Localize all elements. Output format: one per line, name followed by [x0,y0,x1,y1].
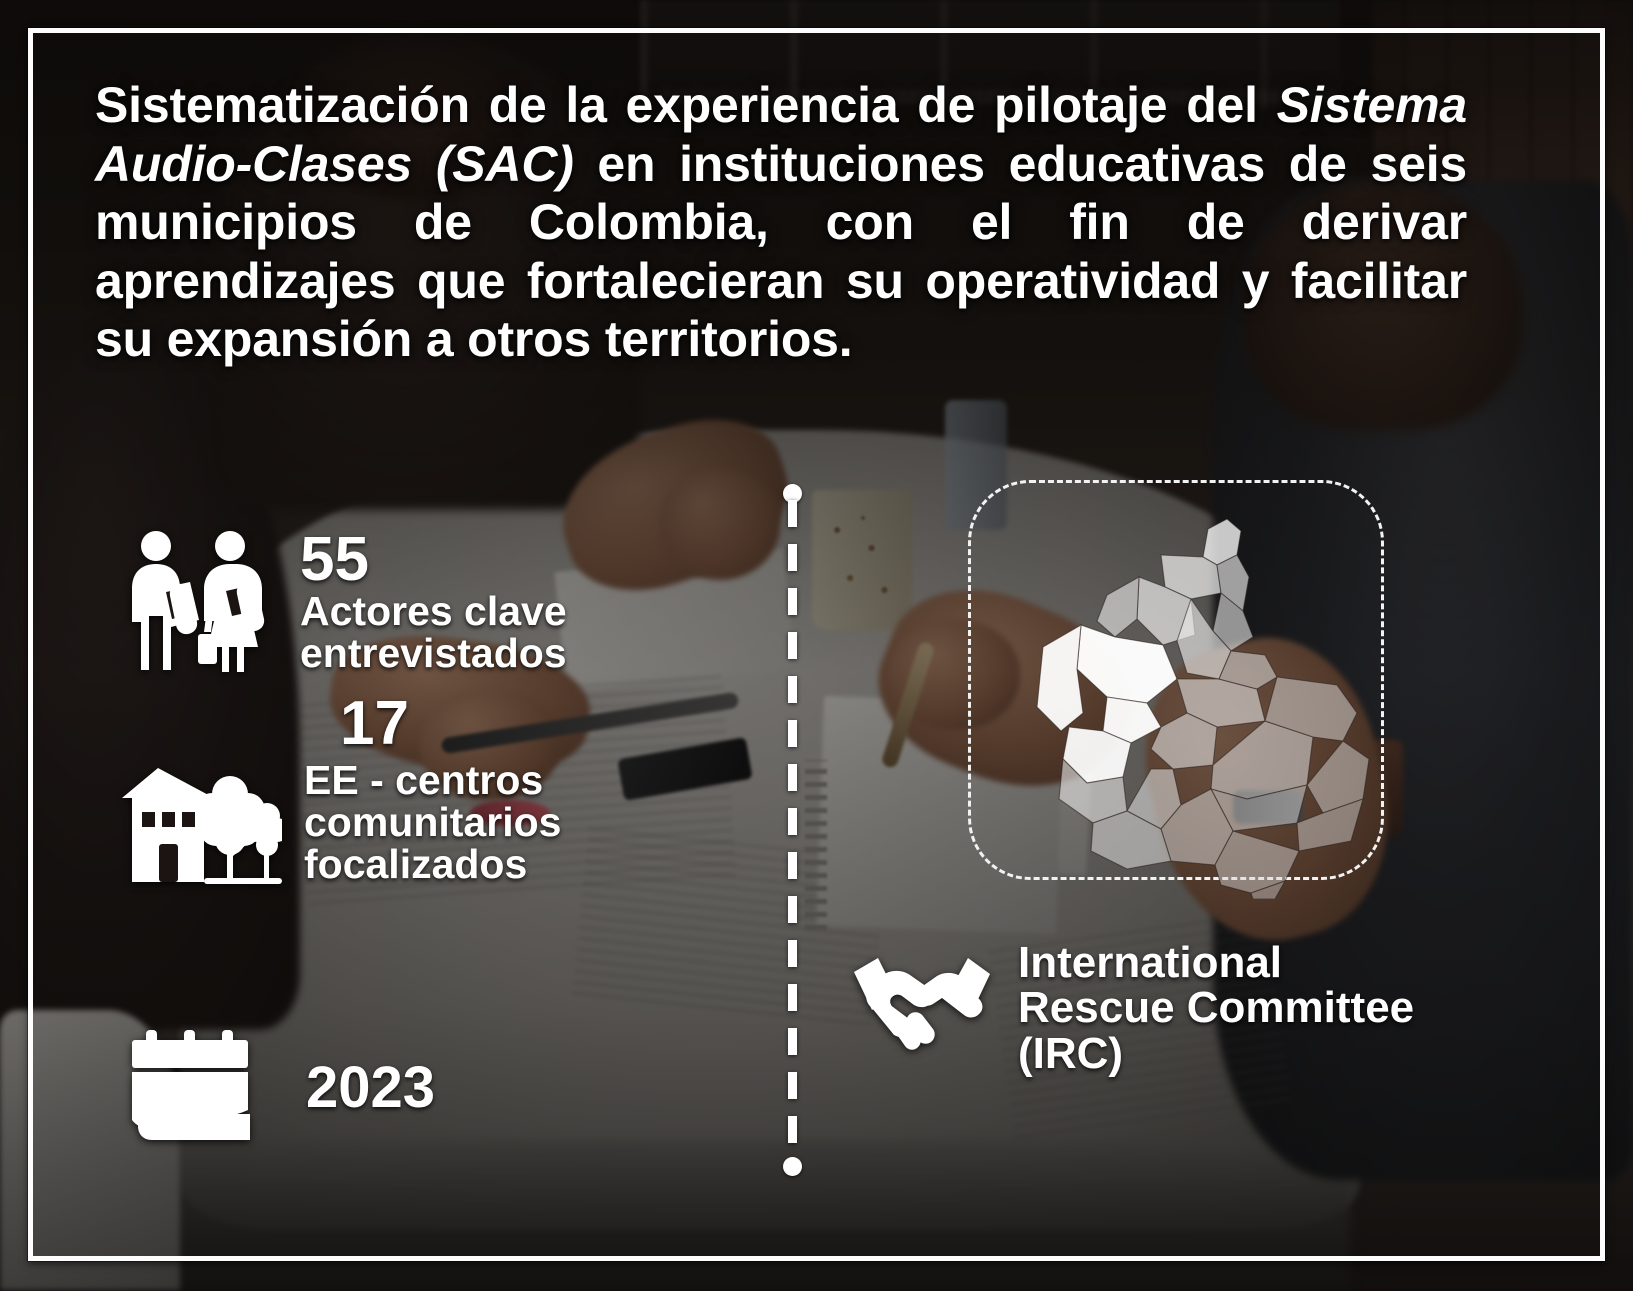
stat-ee-value: 17 [340,694,409,755]
org-name-line3: (IRC) [1018,1031,1414,1076]
school-building-with-trees-icon [112,760,282,895]
organization-block: International Rescue Committee (IRC) [848,940,1414,1076]
stat-actores-clave: 55 Actores clave entrevistados [126,530,567,677]
stat-ee-text: 17 EE - centros comunitarios focalizados [282,760,561,885]
organization-name: International Rescue Committee (IRC) [996,940,1414,1076]
two-people-with-documents-icon [126,530,278,677]
org-name-line2: Rescue Committee [1018,985,1414,1030]
stat-year-value: 2023 [262,1060,435,1117]
title-part-1: Sistematización de la experiencia de pil… [95,77,1277,133]
divider-bottom-dot [783,1157,802,1176]
colombia-map [965,469,1395,899]
org-name-line1: International [1018,940,1414,985]
stat-ee-label-line2: comunitarios [304,802,561,844]
stat-actores-label-line1: Actores clave [300,591,567,633]
stat-ee-centros: 17 EE - centros comunitarios focalizados [112,760,561,895]
stat-ee-label-line1: EE - centros [304,760,561,802]
infographic-slide: Sistematización de la experiencia de pil… [0,0,1633,1291]
tear-off-calendar-icon [118,1030,262,1147]
stat-actores-text: 55 Actores clave entrevistados [278,530,567,674]
handshake-icon [848,940,996,1057]
stat-actores-value: 55 [300,530,567,591]
colombia-map-panel [968,480,1384,880]
stat-year: 2023 [118,1030,435,1147]
stat-ee-label-line3: focalizados [304,844,561,886]
divider-dashed-line [788,500,797,1160]
stat-actores-label-line2: entrevistados [300,633,567,675]
page-title: Sistematización de la experiencia de pil… [95,76,1467,369]
vertical-dashed-divider [783,484,801,1176]
